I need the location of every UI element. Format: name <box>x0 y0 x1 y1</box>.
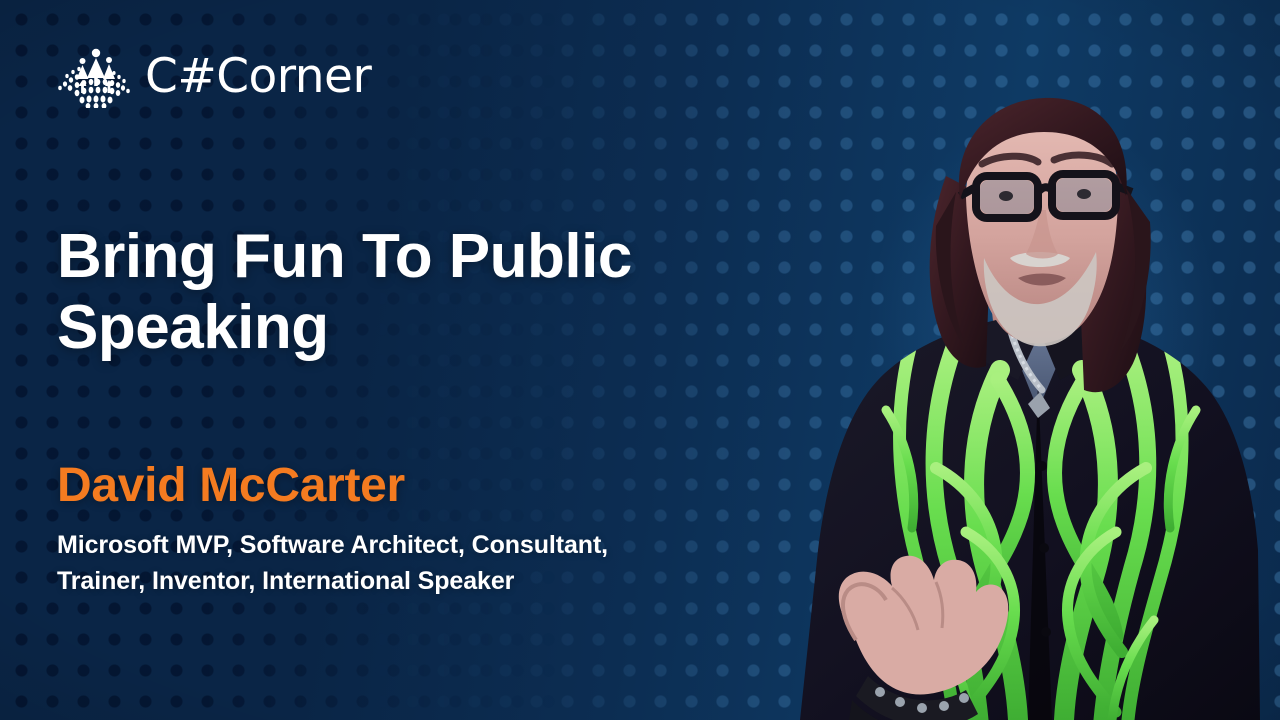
speaker-credentials: Microsoft MVP, Software Architect, Consu… <box>57 527 717 599</box>
slide-title: Bring Fun To Public Speaking <box>57 222 697 363</box>
brand-wordmark: C#Corner <box>145 53 371 100</box>
speaker-credentials-line-2: Trainer, Inventor, International Speaker <box>57 567 514 595</box>
presentation-slide: C#Corner Bring Fun To Public Speaking Da… <box>0 0 1280 720</box>
speaker-name: David McCarter <box>57 460 405 512</box>
brand-logo[interactable]: C#Corner <box>57 44 371 108</box>
presenter-backlight <box>800 120 1270 720</box>
speaker-credentials-line-1: Microsoft MVP, Software Architect, Consu… <box>57 531 608 559</box>
csharp-corner-logo-icon <box>57 44 135 108</box>
